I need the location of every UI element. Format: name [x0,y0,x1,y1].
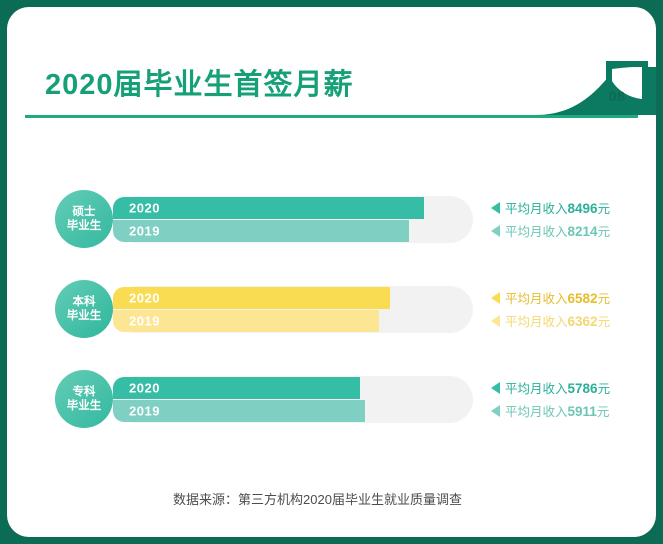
group-label-line1: 本科 [73,295,96,309]
value-prefix: 平均月收入 [505,382,568,396]
value-label-2019: 平均月收入6362元 [491,311,610,330]
group-label-line2: 毕业生 [67,219,102,233]
group-label-line1: 硕士 [73,205,96,219]
value-amount: 8496 [568,201,598,216]
value-prefix: 平均月收入 [505,315,568,329]
bar-year-label: 2019 [129,404,160,419]
bar-year-label: 2019 [129,224,160,239]
value-prefix: 平均月收入 [505,405,568,419]
bar-year-label: 2019 [129,314,160,329]
value-suffix: 元 [598,202,611,216]
value-label-2020: 平均月收入6582元 [491,288,610,307]
slide-card: 2020届毕业生首签月薪 08 硕士毕业生2020平均月收入8496元2019平… [7,7,656,537]
triangle-marker-icon [491,382,500,394]
value-label-2020: 平均月收入8496元 [491,198,610,217]
ribbon-swoosh-icon [536,57,656,119]
bar-2020: 2020 [113,287,390,309]
value-prefix: 平均月收入 [505,202,568,216]
triangle-marker-icon [491,225,500,237]
bar-2020: 2020 [113,197,424,219]
value-label-2019: 平均月收入5911元 [491,401,609,420]
value-text: 平均月收入5911元 [505,401,609,420]
value-text: 平均月收入8214元 [505,221,610,240]
value-amount: 6362 [568,314,598,329]
value-prefix: 平均月收入 [505,225,568,239]
page-title: 2020届毕业生首签月薪 [45,61,354,103]
value-suffix: 元 [598,225,611,239]
value-text: 平均月收入6582元 [505,288,610,307]
group-label-line2: 毕业生 [67,309,102,323]
bar-group: 专科毕业生2020平均月收入5786元2019平均月收入5911元 [7,362,656,438]
triangle-marker-icon [491,202,500,214]
value-label-2020: 平均月收入5786元 [491,378,610,397]
group-label-line1: 专科 [73,385,96,399]
salary-bar-chart: 硕士毕业生2020平均月收入8496元2019平均月收入8214元本科毕业生20… [7,132,656,462]
value-amount: 6582 [568,291,598,306]
group-label-line2: 毕业生 [67,399,102,413]
bar-group: 本科毕业生2020平均月收入6582元2019平均月收入6362元 [7,272,656,348]
value-amount: 8214 [568,224,598,239]
slide-frame: 2020届毕业生首签月薪 08 硕士毕业生2020平均月收入8496元2019平… [0,0,663,544]
triangle-marker-icon [491,315,500,327]
source-note: 数据来源：第三方机构2020届毕业生就业质量调查 [7,489,656,508]
bar-year-label: 2020 [129,291,160,306]
value-label-2019: 平均月收入8214元 [491,221,610,240]
bar-year-label: 2020 [129,201,160,216]
triangle-marker-icon [491,405,500,417]
bar-2019: 2019 [113,310,379,332]
group-badge: 专科毕业生 [55,370,113,428]
triangle-marker-icon [491,292,500,304]
page-number-badge: 08 [600,81,634,111]
value-suffix: 元 [598,292,611,306]
bar-2019: 2019 [113,400,365,422]
value-suffix: 元 [598,315,611,329]
value-prefix: 平均月收入 [505,292,568,306]
bar-2020: 2020 [113,377,360,399]
value-amount: 5786 [568,381,598,396]
bar-year-label: 2020 [129,381,160,396]
group-badge: 本科毕业生 [55,280,113,338]
slide-header: 2020届毕业生首签月薪 08 [7,59,656,121]
bar-2019: 2019 [113,220,409,242]
group-badge: 硕士毕业生 [55,190,113,248]
value-text: 平均月收入8496元 [505,198,610,217]
value-text: 平均月收入5786元 [505,378,610,397]
value-suffix: 元 [598,382,611,396]
bar-group: 硕士毕业生2020平均月收入8496元2019平均月收入8214元 [7,182,656,258]
value-text: 平均月收入6362元 [505,311,610,330]
value-suffix: 元 [597,405,610,419]
value-amount: 5911 [568,404,597,419]
